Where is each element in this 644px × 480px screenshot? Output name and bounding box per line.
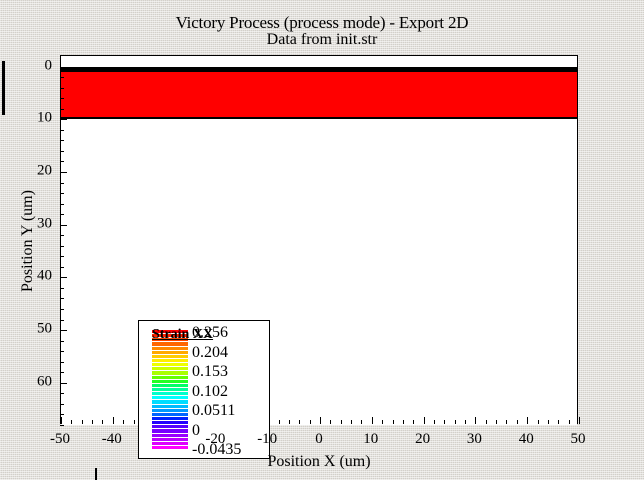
y-tick <box>60 214 64 215</box>
x-tick-label: 30 <box>467 431 482 448</box>
y-tick <box>60 267 64 268</box>
y-tick <box>60 351 64 352</box>
x-tick-label: -40 <box>102 431 122 448</box>
legend-colorbar <box>152 330 188 450</box>
plot-area[interactable]: Strain XX 0.2560.2040.1530.1020.05110-0.… <box>60 55 578 424</box>
legend-value: -0.0435 <box>192 442 241 458</box>
x-tick <box>434 420 435 424</box>
y-tick-label: 60 <box>8 373 52 390</box>
x-tick <box>393 420 394 424</box>
y-axis-title: Position Y (um) <box>19 141 37 341</box>
y-tick <box>60 130 64 131</box>
y-tick <box>60 235 64 236</box>
legend-value: 0.204 <box>192 345 228 361</box>
x-tick <box>444 420 445 424</box>
page-title: Victory Process (process mode) - Export … <box>0 14 644 32</box>
y-tick <box>60 330 67 331</box>
x-tick <box>506 420 507 424</box>
x-tick <box>299 420 300 424</box>
x-tick <box>475 417 476 424</box>
x-tick <box>579 417 580 424</box>
x-tick <box>341 420 342 424</box>
x-tick <box>527 417 528 424</box>
y-tick <box>60 151 64 152</box>
x-tick <box>372 417 373 424</box>
legend-value: 0.102 <box>192 384 228 400</box>
y-tick <box>60 109 64 110</box>
y-tick <box>60 404 64 405</box>
legend-panel[interactable]: Strain XX 0.2560.2040.1530.1020.05110-0.… <box>138 320 270 459</box>
x-tick <box>92 420 93 424</box>
page-subtitle: Data from init.str <box>0 31 644 48</box>
x-tick <box>320 417 321 424</box>
x-tick <box>123 420 124 424</box>
x-tick <box>558 420 559 424</box>
x-tick <box>548 420 549 424</box>
application-background: Victory Process (process mode) - Export … <box>0 0 644 480</box>
y-tick <box>60 320 64 321</box>
x-tick <box>330 420 331 424</box>
y-tick <box>60 161 64 162</box>
x-tick <box>71 420 72 424</box>
x-tick <box>102 420 103 424</box>
y-tick <box>60 98 64 99</box>
left-edge-marker <box>2 61 5 115</box>
y-tick <box>60 383 67 384</box>
x-tick <box>134 420 135 424</box>
structure-layer-strained-region <box>61 72 577 119</box>
y-tick <box>60 341 64 342</box>
legend-value-list: 0.2560.2040.1530.1020.05110-0.0435 <box>192 325 270 455</box>
x-axis-title: Position X (um) <box>60 453 578 471</box>
x-tick-label: 50 <box>571 431 586 448</box>
x-tick <box>455 420 456 424</box>
y-tick <box>60 414 64 415</box>
x-tick <box>538 420 539 424</box>
y-tick <box>60 393 64 394</box>
x-tick <box>361 420 362 424</box>
y-tick-label: 10 <box>8 110 52 127</box>
x-tick <box>310 420 311 424</box>
y-tick <box>60 77 64 78</box>
legend-value: 0 <box>192 423 200 439</box>
x-tick <box>113 417 114 424</box>
x-tick <box>424 417 425 424</box>
y-tick <box>60 309 64 310</box>
x-tick <box>279 420 280 424</box>
x-tick-label: 20 <box>415 431 430 448</box>
x-tick <box>465 420 466 424</box>
y-tick <box>60 193 64 194</box>
x-tick <box>382 420 383 424</box>
x-tick <box>569 420 570 424</box>
colorbar-band <box>152 446 188 450</box>
x-tick <box>517 420 518 424</box>
x-tick-label: 0 <box>315 431 323 448</box>
y-tick <box>60 183 64 184</box>
x-tick <box>486 420 487 424</box>
y-tick <box>60 298 64 299</box>
y-tick <box>60 277 67 278</box>
x-tick <box>61 417 62 424</box>
x-tick <box>351 420 352 424</box>
y-tick <box>60 288 64 289</box>
x-tick-label: 40 <box>519 431 534 448</box>
x-tick <box>496 420 497 424</box>
y-tick <box>60 225 67 226</box>
y-tick <box>60 119 67 120</box>
y-tick <box>60 425 64 426</box>
x-tick-label: -50 <box>50 431 70 448</box>
y-tick <box>60 256 64 257</box>
y-tick <box>60 362 64 363</box>
legend-title: Strain XX <box>152 327 213 343</box>
x-tick <box>413 420 414 424</box>
legend-value: 0.153 <box>192 364 228 380</box>
y-tick <box>60 172 67 173</box>
x-tick-label: 10 <box>363 431 378 448</box>
y-tick-label: 0 <box>8 57 52 74</box>
y-tick <box>60 67 67 68</box>
x-tick <box>289 420 290 424</box>
y-tick <box>60 204 64 205</box>
x-tick <box>82 420 83 424</box>
y-tick <box>60 88 64 89</box>
y-tick <box>60 246 64 247</box>
legend-value: 0.0511 <box>192 403 235 419</box>
y-tick <box>60 372 64 373</box>
y-tick <box>60 140 64 141</box>
title-block: Victory Process (process mode) - Export … <box>0 14 644 48</box>
x-tick <box>403 420 404 424</box>
